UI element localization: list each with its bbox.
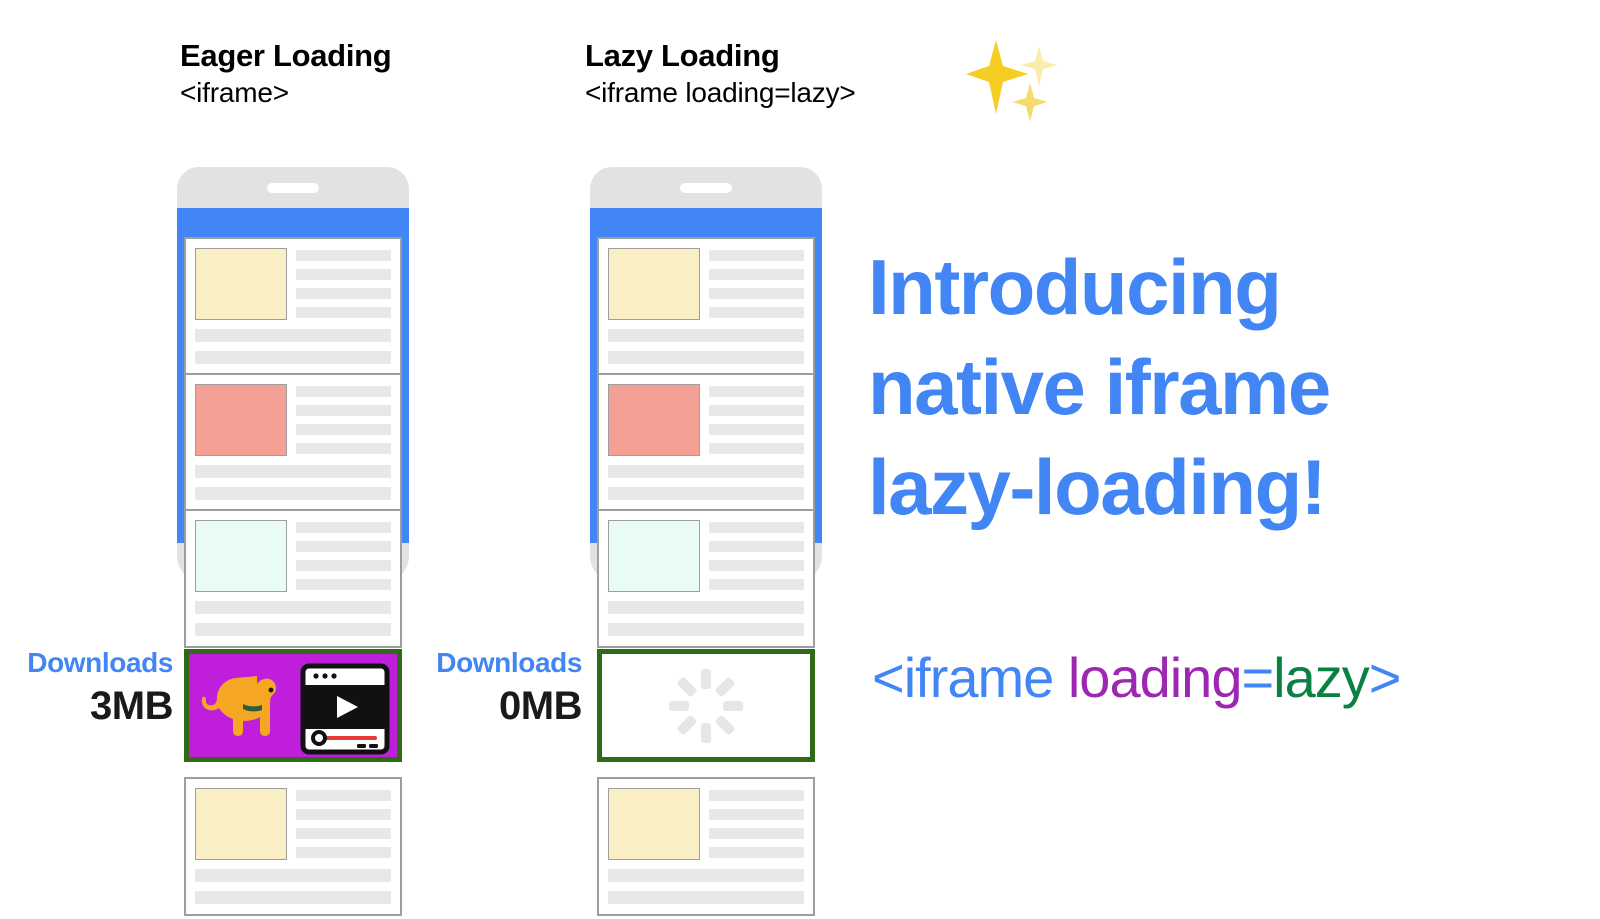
feed-card: [184, 777, 402, 916]
code-attribute-value: lazy: [1273, 646, 1369, 709]
text-placeholder-line: [608, 465, 804, 478]
article-feed: [597, 0, 823, 919]
feed-card: [184, 509, 402, 648]
downloads-label: Downloads: [0, 648, 173, 677]
text-placeholder-line: [608, 487, 804, 500]
downloads-value: 3MB: [0, 683, 173, 729]
text-placeholder-line: [608, 869, 804, 882]
text-placeholder-line: [709, 828, 804, 839]
card-thumbnail: [195, 248, 287, 320]
code-tag-close: >: [1369, 646, 1401, 709]
card-thumbnail: [608, 788, 700, 860]
dog-illustration-icon: [199, 666, 291, 754]
card-thumbnail: [608, 384, 700, 456]
text-placeholder-line: [296, 522, 391, 533]
text-placeholder-line: [709, 424, 804, 435]
card-thumbnail: [608, 248, 700, 320]
downloads-label: Downloads: [404, 648, 582, 677]
card-thumbnail: [195, 788, 287, 860]
text-placeholder-line: [296, 386, 391, 397]
text-placeholder-line: [608, 351, 804, 364]
text-placeholder-line: [709, 809, 804, 820]
downloads-readout-eager: Downloads 3MB: [0, 648, 173, 729]
text-placeholder-line: [709, 541, 804, 552]
downloads-value: 0MB: [404, 683, 582, 729]
text-placeholder-line: [296, 541, 391, 552]
text-placeholder-line: [296, 307, 391, 318]
text-placeholder-line: [709, 405, 804, 416]
text-placeholder-line: [709, 560, 804, 571]
text-placeholder-line: [608, 891, 804, 904]
text-placeholder-line: [296, 250, 391, 261]
text-placeholder-line: [709, 790, 804, 801]
code-space: [1053, 646, 1068, 709]
feed-card: [597, 777, 815, 916]
card-thumbnail: [195, 520, 287, 592]
feed-card: [597, 237, 815, 376]
text-placeholder-line: [296, 847, 391, 858]
video-player-icon: [300, 663, 390, 755]
code-snippet: <iframe loading=lazy>: [872, 645, 1400, 710]
text-placeholder-line: [195, 869, 391, 882]
code-attribute-name: loading: [1068, 646, 1242, 709]
code-tag-open: <iframe: [872, 646, 1053, 709]
feed-card: [597, 373, 815, 512]
text-placeholder-line: [195, 891, 391, 904]
text-placeholder-line: [709, 579, 804, 590]
text-placeholder-line: [608, 623, 804, 636]
phone-mockup-lazy: [583, 0, 823, 919]
text-placeholder-line: [296, 809, 391, 820]
feed-card: [597, 509, 815, 648]
sparkles-icon: [960, 28, 1070, 128]
text-placeholder-line: [296, 579, 391, 590]
text-placeholder-line: [195, 487, 391, 500]
text-placeholder-line: [195, 351, 391, 364]
text-placeholder-line: [709, 288, 804, 299]
text-placeholder-line: [709, 522, 804, 533]
downloads-readout-lazy: Downloads 0MB: [404, 648, 582, 729]
iframe-embed-loaded[interactable]: [184, 649, 402, 762]
card-thumbnail: [195, 384, 287, 456]
text-placeholder-line: [608, 601, 804, 614]
text-placeholder-line: [195, 329, 391, 342]
text-placeholder-line: [709, 250, 804, 261]
article-feed: [184, 0, 410, 919]
text-placeholder-line: [296, 405, 391, 416]
text-placeholder-line: [709, 307, 804, 318]
text-placeholder-line: [195, 623, 391, 636]
text-placeholder-line: [709, 386, 804, 397]
text-placeholder-line: [296, 288, 391, 299]
text-placeholder-line: [195, 601, 391, 614]
text-placeholder-line: [296, 424, 391, 435]
text-placeholder-line: [709, 847, 804, 858]
text-placeholder-line: [296, 560, 391, 571]
feed-card: [184, 237, 402, 376]
page-headline: Introducing native iframe lazy-loading!: [868, 238, 1508, 537]
card-thumbnail: [608, 520, 700, 592]
text-placeholder-line: [296, 443, 391, 454]
text-placeholder-line: [296, 790, 391, 801]
text-placeholder-line: [608, 329, 804, 342]
code-equals: =: [1241, 646, 1273, 709]
iframe-embed-placeholder[interactable]: [597, 649, 815, 762]
text-placeholder-line: [709, 269, 804, 280]
text-placeholder-line: [195, 465, 391, 478]
loading-spinner-icon: [667, 667, 745, 745]
phone-mockup-eager: [170, 0, 410, 919]
text-placeholder-line: [296, 828, 391, 839]
feed-card: [184, 373, 402, 512]
text-placeholder-line: [709, 443, 804, 454]
text-placeholder-line: [296, 269, 391, 280]
